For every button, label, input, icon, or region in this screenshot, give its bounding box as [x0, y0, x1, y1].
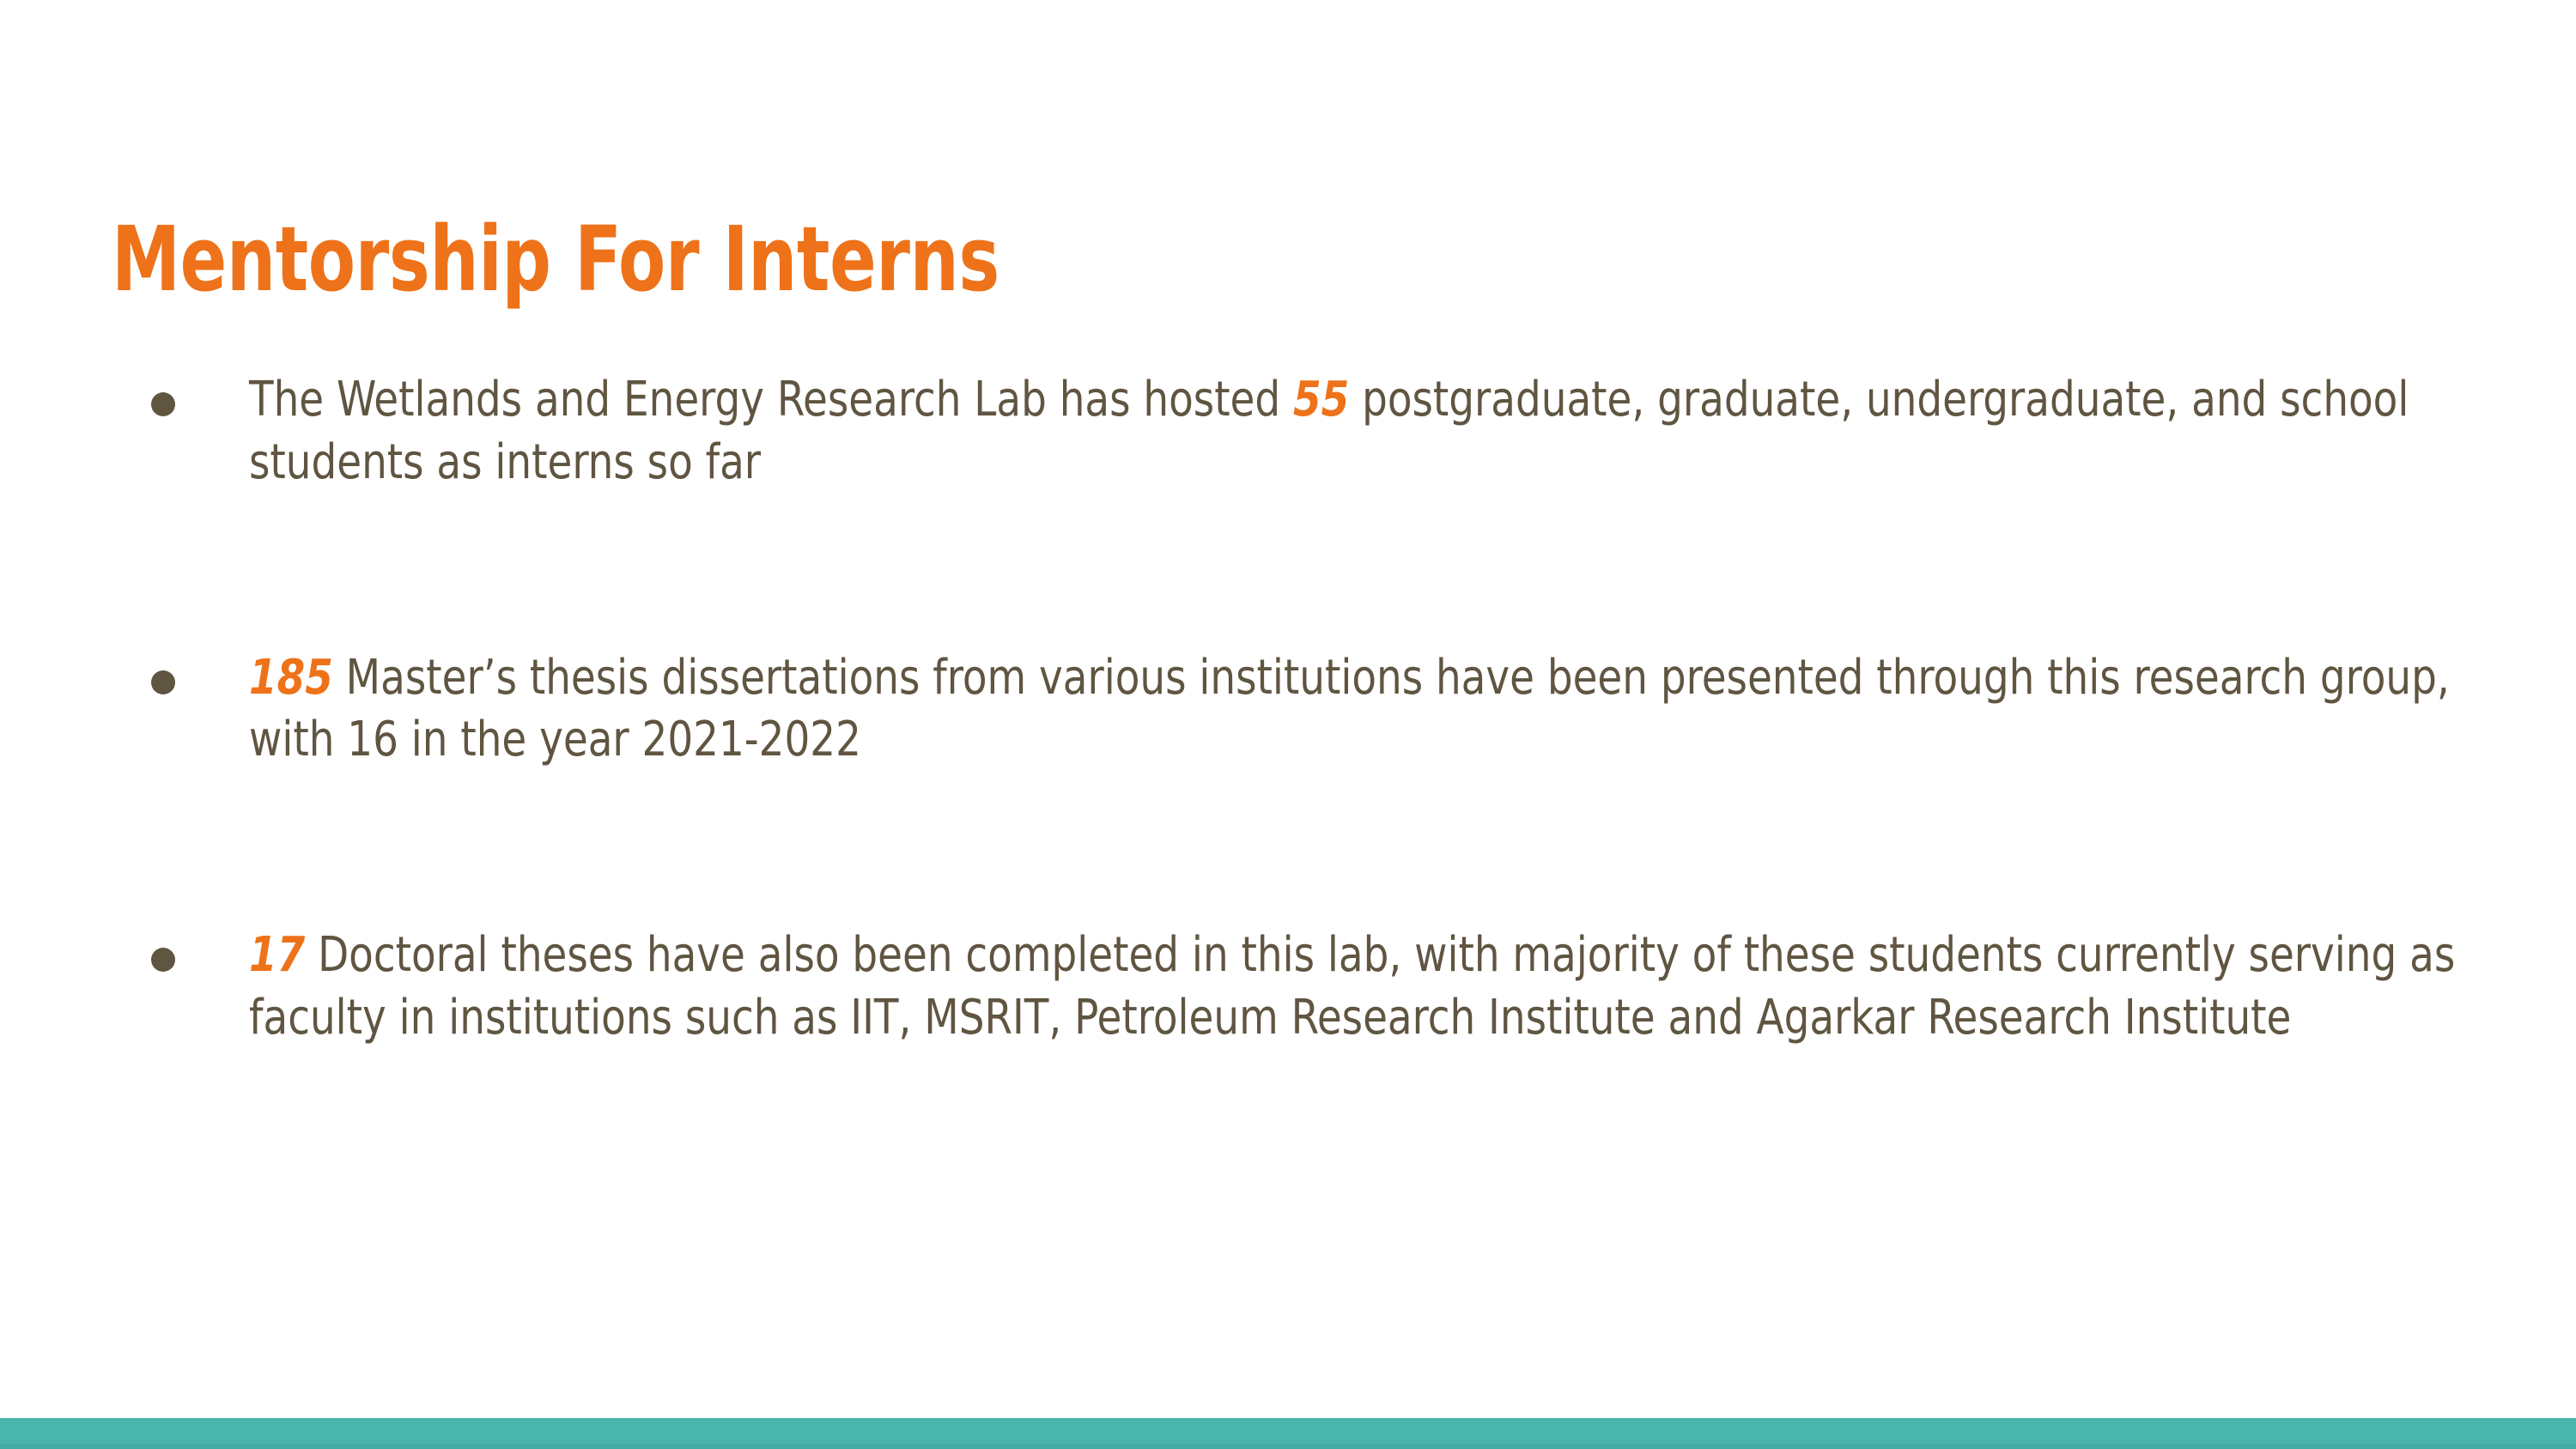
round-bullet-icon	[151, 948, 175, 972]
round-bullet-icon	[151, 392, 175, 416]
highlight-number: 55	[1293, 372, 1349, 427]
list-item-text: The Wetlands and Energy Research Lab has…	[249, 369, 2455, 494]
bullet-list: The Wetlands and Energy Research Lab has…	[0, 369, 2576, 1050]
list-item: 17 Doctoral theses have also been comple…	[0, 925, 2576, 1050]
text-run: The Wetlands and Energy Research Lab has…	[249, 372, 1293, 427]
text-run: Master’s thesis dissertations from vario…	[249, 650, 2450, 768]
highlight-number: 17	[249, 927, 305, 983]
page-title: Mentorship For Interns	[112, 213, 2105, 306]
round-bullet-icon	[151, 670, 175, 694]
list-item: 185 Master’s thesis dissertations from v…	[0, 647, 2576, 773]
list-item: The Wetlands and Energy Research Lab has…	[0, 369, 2576, 494]
text-run: Doctoral theses have also been completed…	[249, 927, 2455, 1046]
list-item-text: 185 Master’s thesis dissertations from v…	[249, 647, 2455, 773]
highlight-number: 185	[249, 650, 333, 706]
list-item-text: 17 Doctoral theses have also been comple…	[249, 925, 2455, 1050]
presentation-slide: Mentorship For Interns The Wetlands and …	[0, 0, 2576, 1449]
footer-accent-bar-shade	[0, 1444, 2576, 1449]
footer-accent-bar	[0, 1418, 2576, 1449]
